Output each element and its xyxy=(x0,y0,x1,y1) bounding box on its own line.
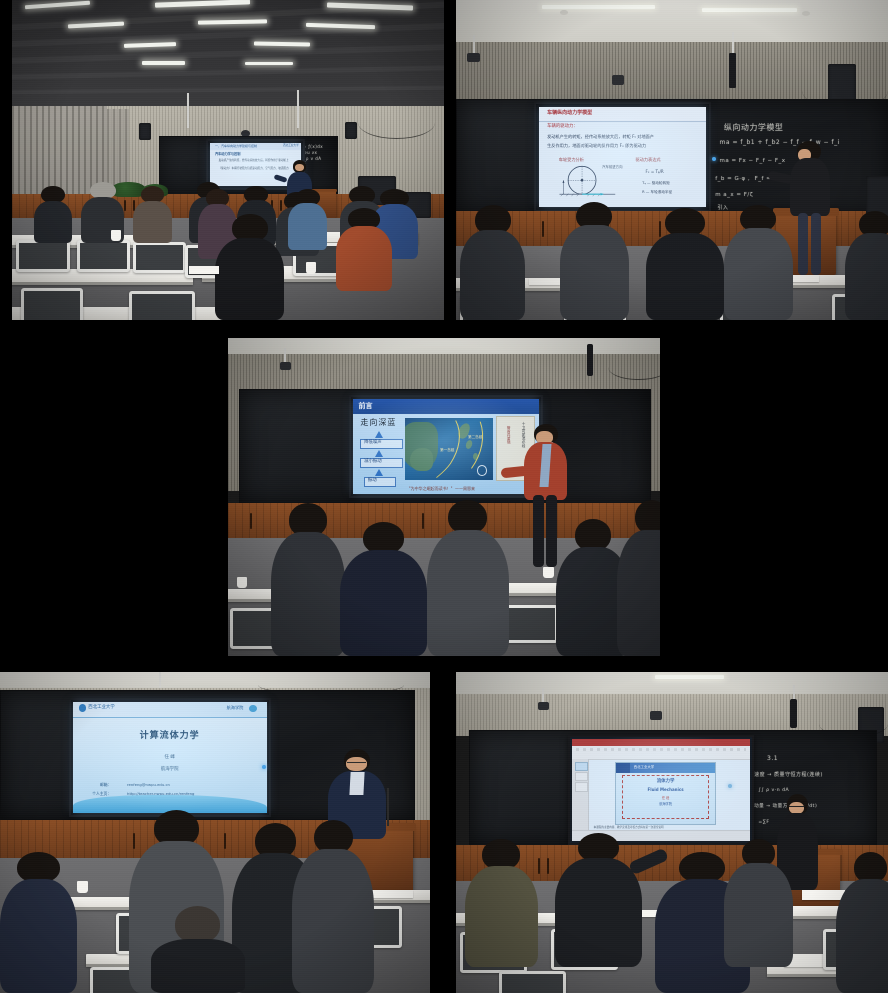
slide-school: 航海学院 xyxy=(227,705,244,710)
slide-canvas[interactable]: 西北工业大学 流体力学 Fluid Mechanics 任 峰 航海学院 xyxy=(615,762,716,825)
slide-header-band xyxy=(616,763,715,773)
paper-cup xyxy=(237,577,247,588)
chair xyxy=(16,240,70,272)
audience-torso xyxy=(288,203,327,249)
photo-panel-bottom-right[interactable]: 3.1 速度 → 质量守恒方程(连续) ∫∫ ρ v·n dA 动量 → 动量方… xyxy=(456,672,888,993)
paper-cup xyxy=(543,567,553,578)
slide-university: 西北工业大学 xyxy=(634,765,654,769)
slide-email-value: renfeng@nwpu.edu.cn xyxy=(127,783,170,788)
cabinet-handle xyxy=(124,200,126,211)
audience-torso xyxy=(340,550,426,656)
map-image: 第一岛链 第二岛链 xyxy=(405,418,492,479)
ceiling-microphone xyxy=(473,35,475,54)
slide-calligraphy: 走向深蓝 xyxy=(360,418,396,428)
slide-footer-quote: "为中华之崛起而读书！" ——周恩来 xyxy=(409,486,475,491)
presenter-glasses-icon xyxy=(347,762,366,766)
slide-email-label: 邮箱： xyxy=(100,783,111,788)
audience-member xyxy=(555,833,641,968)
ceiling-light xyxy=(245,62,293,65)
wall-camera xyxy=(612,75,624,85)
audience-torso xyxy=(292,849,374,993)
photo-collage: ⌐ ≈ ƒ(x)dx ⌐ ∂u ∂x ∫∫ ρ v dA Σ F 西北工业大学 … xyxy=(0,0,888,993)
audience-member xyxy=(151,906,246,993)
slide-chain-label-2: 减小振动 xyxy=(364,459,382,465)
audience-torso xyxy=(724,863,793,967)
audience-torso xyxy=(427,530,509,656)
slide-title: 汽车动力学与控制 xyxy=(215,152,241,156)
projection-screen-frame[interactable]: 西北工业大学 航海学院 计算流体力学 任 峰 航海学院 邮箱： renfeng@… xyxy=(69,698,271,818)
audience-member xyxy=(271,503,344,656)
ceiling-light xyxy=(142,61,185,64)
projection-screen-frame[interactable]: 前言 走向深蓝 降低噪声 减小振动 振动 xyxy=(349,395,543,498)
presenter-leg xyxy=(811,213,821,275)
audience-member xyxy=(0,852,77,993)
presenter-collar-gap xyxy=(349,772,365,795)
audience-torso xyxy=(336,226,392,291)
flow-arrow xyxy=(375,431,383,438)
wall-camera xyxy=(650,711,662,721)
audience-member xyxy=(340,522,426,656)
slide-body-1: 发动机产生的转矩，经传动系统放大后，转矩 Fₜ 对地面产 xyxy=(547,134,654,139)
audience-head xyxy=(575,519,610,550)
audience-torso xyxy=(0,879,77,993)
projection-screen-frame[interactable]: 车辆纵向动力学模型 车辆的驱动力： 发动机产生的转矩，经传动系统放大后，转矩 F… xyxy=(534,102,711,212)
lecture-hall-scene-4: 西北工业大学 航海学院 计算流体力学 任 峰 航海学院 邮箱： renfeng@… xyxy=(0,672,430,993)
slide-subtitle: 车辆的驱动力： xyxy=(547,124,578,130)
lecture-hall-scene-1: ⌐ ≈ ƒ(x)dx ⌐ ∂u ∂x ∫∫ ρ v dA Σ F 西北工业大学 … xyxy=(12,0,444,320)
slide-title: 前言 xyxy=(359,402,373,411)
audience-torso xyxy=(560,225,629,320)
ceiling-microphone xyxy=(732,32,734,54)
audience-head xyxy=(175,906,220,942)
cabinet-handle xyxy=(538,858,540,874)
slide-body-1: 发动机产生的转矩，经传动系统放大后，转矩作用于驱动轮上 xyxy=(219,159,289,162)
audience-torso xyxy=(215,238,284,320)
slide-university: 西北工业大学 xyxy=(88,705,114,711)
ceiling-camera xyxy=(280,362,291,370)
wall-speaker xyxy=(345,122,357,139)
hanging-microphone xyxy=(790,699,797,728)
slide-footer-note: 本课程的主要内容、教学安排及考核方式将在第一次课堂说明 xyxy=(594,826,664,829)
flow-arrow xyxy=(375,450,383,457)
paper-cup xyxy=(111,230,121,241)
audience-member xyxy=(724,205,793,320)
audience-member xyxy=(215,214,284,320)
audience-member xyxy=(288,189,327,250)
audience-member xyxy=(133,186,172,244)
wall-cable xyxy=(358,106,436,139)
hanging-microphone xyxy=(729,53,736,88)
photo-panel-top-left[interactable]: ⌐ ≈ ƒ(x)dx ⌐ ∂u ∂x ∫∫ ρ v dA Σ F 西北工业大学 … xyxy=(12,0,444,320)
slide-side-note-1: 管首兵重地 xyxy=(507,426,511,444)
audience-torso xyxy=(133,201,172,244)
handout-paper xyxy=(529,278,559,285)
presenter-leg xyxy=(798,213,808,275)
wheel-diagram xyxy=(554,163,621,203)
presenter-leg xyxy=(533,495,543,567)
ceiling xyxy=(228,338,660,354)
hanging-microphone xyxy=(587,344,594,376)
ceiling-light xyxy=(702,8,797,12)
ceiling-downlight xyxy=(560,10,569,15)
slide-surface: 西北工业大学 航海学院 计算流体力学 任 峰 航海学院 邮箱： renfeng@… xyxy=(73,702,267,814)
lecture-hall-scene-2: 纵向动力学模型 ma = f_b1 + f_b2 − f_f − f_w − f… xyxy=(456,0,888,320)
ceiling-light xyxy=(655,675,724,679)
audience-member xyxy=(427,500,509,656)
slide-presenter-dept: 航海学院 xyxy=(161,767,179,773)
slide-line-1: 一、汽车纵向动力学建模与控制 xyxy=(215,145,257,149)
cabinet-handle xyxy=(547,858,549,874)
slide-thumbnail[interactable] xyxy=(575,772,588,781)
audience-torso xyxy=(151,939,246,993)
audience-torso xyxy=(34,201,73,244)
audience-member xyxy=(465,839,538,967)
slide-note-1: Tᵩ — 驱动轮转矩 xyxy=(642,181,670,185)
audience-member xyxy=(845,211,888,320)
screen-indicator-dot xyxy=(712,157,716,161)
map-label-1: 第一岛链 xyxy=(440,448,454,452)
powerpoint-titlebar xyxy=(572,739,749,746)
slide-thumbnail[interactable] xyxy=(575,782,588,791)
ceiling-microphone xyxy=(297,90,299,128)
audience-member xyxy=(617,500,660,656)
paper-cup xyxy=(77,881,87,893)
map-label-2: 第二岛链 xyxy=(468,435,482,439)
slide-chain-label-1: 降低噪声 xyxy=(364,440,382,446)
chair xyxy=(499,971,565,993)
audience-member xyxy=(646,208,724,320)
lecture-hall-scene-3: 前言 走向深蓝 降低噪声 减小振动 振动 xyxy=(228,338,660,656)
slide-bullet-left: 车轮受力分析 xyxy=(559,157,584,162)
slide-formula-1: Fₓ = Tᵩ/R xyxy=(646,169,664,174)
lecture-hall-scene-5: 3.1 速度 → 质量守恒方程(连续) ∫∫ ρ v·n dA 动量 → 动量方… xyxy=(456,672,888,993)
audience-torso xyxy=(845,233,888,320)
cabinet-handle xyxy=(224,833,226,849)
audience-torso xyxy=(465,866,538,967)
slide-title: 计算流体力学 xyxy=(140,731,200,742)
presenter-torso xyxy=(790,158,830,216)
cabinet-handle xyxy=(250,513,252,529)
slide-selection-border[interactable] xyxy=(622,775,709,819)
slide-bullet-right: 驱动力表达式 xyxy=(635,157,660,162)
audience-torso xyxy=(646,233,724,320)
chair xyxy=(129,291,195,320)
chair xyxy=(133,242,187,274)
audience-torso xyxy=(555,858,641,967)
podium-microphone xyxy=(387,788,389,827)
chair xyxy=(21,288,83,320)
slide-title: 车辆纵向动力学模型 xyxy=(547,110,592,116)
ceiling-light xyxy=(542,5,654,9)
slide-surface: 车辆纵向动力学模型 车辆的驱动力： 发动机产生的转矩，经传动系统放大后，转矩 F… xyxy=(539,107,706,207)
slide-body-2: （驱动力）车辆行驶阻力包括滚动阻力、空气阻力、坡道阻力 xyxy=(219,167,289,170)
handout-paper xyxy=(370,890,413,898)
audience-member xyxy=(560,202,629,320)
audience-torso xyxy=(724,228,793,320)
wall-speaker xyxy=(139,123,150,140)
audience-member xyxy=(336,208,392,291)
slide-body-2: 生反作用力，地面对驱动轮的反作用力 Fₓ 即为驱动力 xyxy=(547,143,646,148)
audience-torso xyxy=(617,530,660,656)
audience-torso xyxy=(460,230,525,320)
audience-member xyxy=(460,205,525,320)
school-emblem-icon xyxy=(249,705,257,712)
photo-panel-top-right[interactable]: 纵向动力学模型 ma = f_b1 + f_b2 − f_f − f_w − f… xyxy=(456,0,888,320)
audience-torso xyxy=(271,532,344,656)
chair xyxy=(77,240,131,272)
handout-paper xyxy=(189,266,219,274)
slide-header-tab xyxy=(616,763,630,773)
slide-surface: 前言 走向深蓝 降低噪声 减小振动 振动 xyxy=(353,399,539,494)
ceiling-camera xyxy=(538,702,549,710)
powerpoint-window[interactable]: 西北工业大学 流体力学 Fluid Mechanics 任 峰 航海学院 本课程… xyxy=(572,739,749,841)
ribbon-tool-row xyxy=(576,748,746,751)
audience-member xyxy=(836,852,888,993)
ceiling-microphone xyxy=(159,672,161,688)
slide-chain-label-3: 振动 xyxy=(368,478,377,484)
ceiling-microphone xyxy=(187,93,189,128)
ceiling xyxy=(456,0,888,42)
slide-presenter-name: 任 峰 xyxy=(164,755,175,761)
presenter-at-blackboard xyxy=(789,141,832,275)
presenter-glasses-icon xyxy=(789,806,804,810)
photo-panel-center[interactable]: 前言 走向深蓝 降低噪声 减小振动 振动 xyxy=(228,338,660,656)
audience-torso xyxy=(836,879,888,993)
paper-cup xyxy=(306,262,316,274)
slide-note-2: R — 车轮滚动半径 xyxy=(642,190,672,194)
photo-panel-bottom-left[interactable]: 西北工业大学 航海学院 计算流体力学 任 峰 航海学院 邮箱： renfeng@… xyxy=(0,672,430,993)
slide-thumbnail[interactable] xyxy=(575,762,588,771)
audience-member xyxy=(724,839,793,967)
audience-member xyxy=(34,186,73,244)
presenter-face xyxy=(295,164,304,171)
projection-screen-frame[interactable]: 西北工业大学 流体力学 Fluid Mechanics 任 峰 航海学院 本课程… xyxy=(568,735,753,845)
slide-title-band xyxy=(353,399,539,414)
audience-member xyxy=(292,820,374,993)
slide-logo: 西北工业大学 xyxy=(283,144,299,147)
flow-arrow xyxy=(375,469,383,476)
ceiling-camera xyxy=(467,53,480,63)
